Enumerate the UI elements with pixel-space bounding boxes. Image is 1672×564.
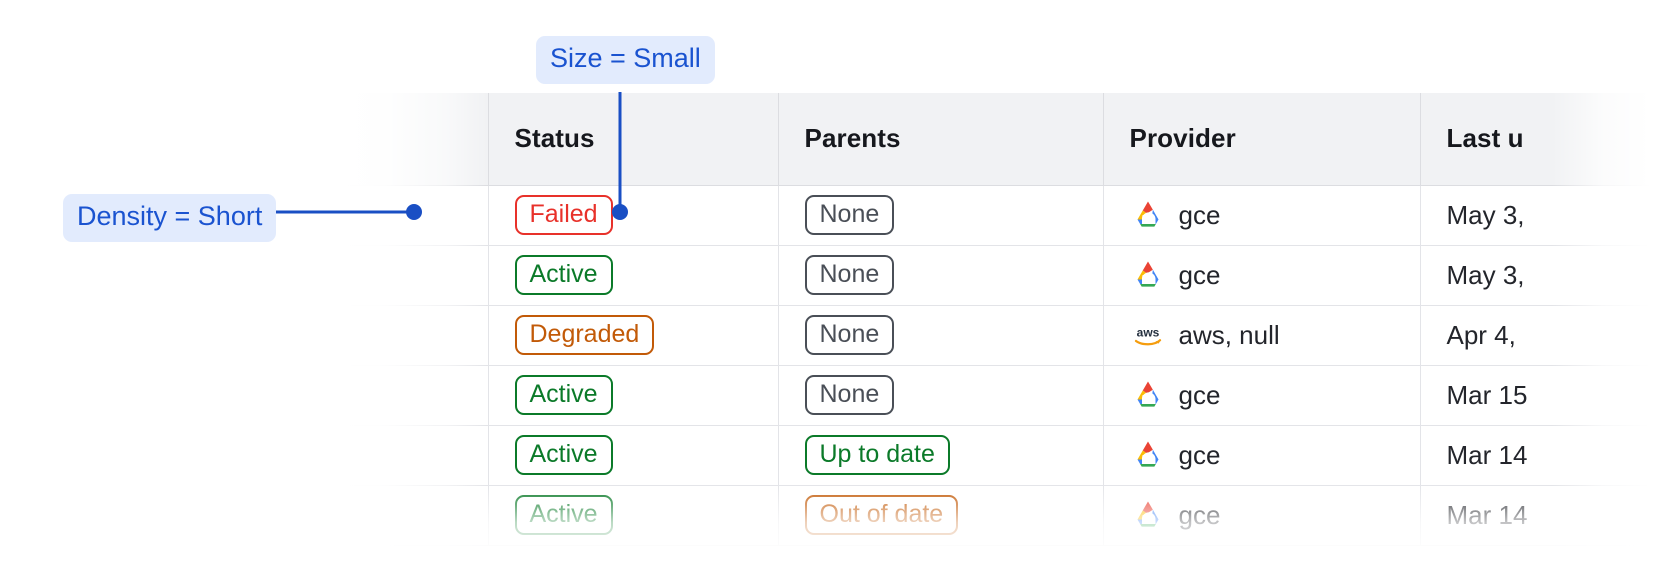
cell-status: Active bbox=[488, 425, 778, 485]
status-badge: Active bbox=[515, 495, 613, 535]
cell-status: Degraded bbox=[488, 305, 778, 365]
status-badge: Failed bbox=[515, 195, 613, 235]
cell-last-updated: Apr 4, bbox=[1420, 305, 1672, 365]
column-header-status[interactable]: Status bbox=[488, 93, 778, 185]
cell-status: Active bbox=[488, 485, 778, 545]
cell-location bbox=[300, 245, 488, 305]
cell-provider: gce bbox=[1103, 425, 1420, 485]
table-body: FailedNonegceMay 3,ActiveNonegceMay 3,De… bbox=[300, 185, 1672, 545]
cell-provider: gce bbox=[1103, 365, 1420, 425]
cell-parents: None bbox=[778, 185, 1103, 245]
column-header-last-updated[interactable]: Last u bbox=[1420, 93, 1672, 185]
provider-label: gce bbox=[1179, 440, 1221, 471]
status-badge: Active bbox=[515, 435, 613, 475]
table-row[interactable]: ActiveUp to dategceMar 14 bbox=[300, 425, 1672, 485]
provider-label: gce bbox=[1179, 260, 1221, 291]
cell-status: Active bbox=[488, 245, 778, 305]
cell-location bbox=[300, 485, 488, 545]
gcp-cloud-icon bbox=[1130, 500, 1166, 530]
table-row[interactable]: ActiveNonegceMay 3, bbox=[300, 245, 1672, 305]
parents-badge: None bbox=[805, 255, 895, 295]
gcp-cloud-icon bbox=[1130, 440, 1166, 470]
annotation-size-label: Size = Small bbox=[536, 36, 715, 84]
table-row[interactable]: ActiveNonegceMar 15 bbox=[300, 365, 1672, 425]
column-header-parents[interactable]: Parents bbox=[778, 93, 1103, 185]
status-badge: Active bbox=[515, 375, 613, 415]
cell-parents: Out of date bbox=[778, 485, 1103, 545]
cell-provider: awsaws, null bbox=[1103, 305, 1420, 365]
cell-parents: Up to date bbox=[778, 425, 1103, 485]
cell-last-updated: Mar 14 bbox=[1420, 485, 1672, 545]
provider-label: gce bbox=[1179, 200, 1221, 231]
table-row[interactable]: ActiveOut of dategceMar 14 bbox=[300, 485, 1672, 545]
provider-label: gce bbox=[1179, 500, 1221, 531]
parents-badge: Up to date bbox=[805, 435, 950, 475]
column-header-provider[interactable]: Provider bbox=[1103, 93, 1420, 185]
cell-location bbox=[300, 425, 488, 485]
column-header-location[interactable]: tion bbox=[300, 93, 488, 185]
screenshot-root: tion Status Parents Provider Last u Fail… bbox=[0, 0, 1672, 564]
gcp-cloud-icon bbox=[1130, 380, 1166, 410]
cell-parents: None bbox=[778, 245, 1103, 305]
gcp-cloud-icon bbox=[1130, 260, 1166, 290]
parents-badge: None bbox=[805, 315, 895, 355]
data-table: tion Status Parents Provider Last u Fail… bbox=[300, 93, 1672, 546]
provider-label: aws, null bbox=[1179, 320, 1280, 351]
provider-label: gce bbox=[1179, 380, 1221, 411]
cell-last-updated: Mar 14 bbox=[1420, 425, 1672, 485]
aws-icon: aws bbox=[1130, 320, 1166, 350]
cell-parents: None bbox=[778, 305, 1103, 365]
cell-last-updated: May 3, bbox=[1420, 185, 1672, 245]
table-header-row: tion Status Parents Provider Last u bbox=[300, 93, 1672, 185]
table-header: tion Status Parents Provider Last u bbox=[300, 93, 1672, 185]
cell-last-updated: Mar 15 bbox=[1420, 365, 1672, 425]
cell-provider: gce bbox=[1103, 185, 1420, 245]
cell-location bbox=[300, 365, 488, 425]
table-row[interactable]: DegradedNoneawsaws, nullApr 4, bbox=[300, 305, 1672, 365]
cell-last-updated: May 3, bbox=[1420, 245, 1672, 305]
cell-provider: gce bbox=[1103, 485, 1420, 545]
parents-badge: None bbox=[805, 195, 895, 235]
parents-badge: None bbox=[805, 375, 895, 415]
cell-location bbox=[300, 185, 488, 245]
cell-parents: None bbox=[778, 365, 1103, 425]
gcp-cloud-icon bbox=[1130, 200, 1166, 230]
data-table-scroll-region[interactable]: tion Status Parents Provider Last u Fail… bbox=[300, 93, 1672, 564]
svg-text:aws: aws bbox=[1136, 326, 1159, 340]
cell-location bbox=[300, 305, 488, 365]
status-badge: Degraded bbox=[515, 315, 655, 355]
annotation-density-label: Density = Short bbox=[63, 194, 276, 242]
cell-status: Failed bbox=[488, 185, 778, 245]
table-row[interactable]: FailedNonegceMay 3, bbox=[300, 185, 1672, 245]
status-badge: Active bbox=[515, 255, 613, 295]
parents-badge: Out of date bbox=[805, 495, 959, 535]
cell-provider: gce bbox=[1103, 245, 1420, 305]
cell-status: Active bbox=[488, 365, 778, 425]
